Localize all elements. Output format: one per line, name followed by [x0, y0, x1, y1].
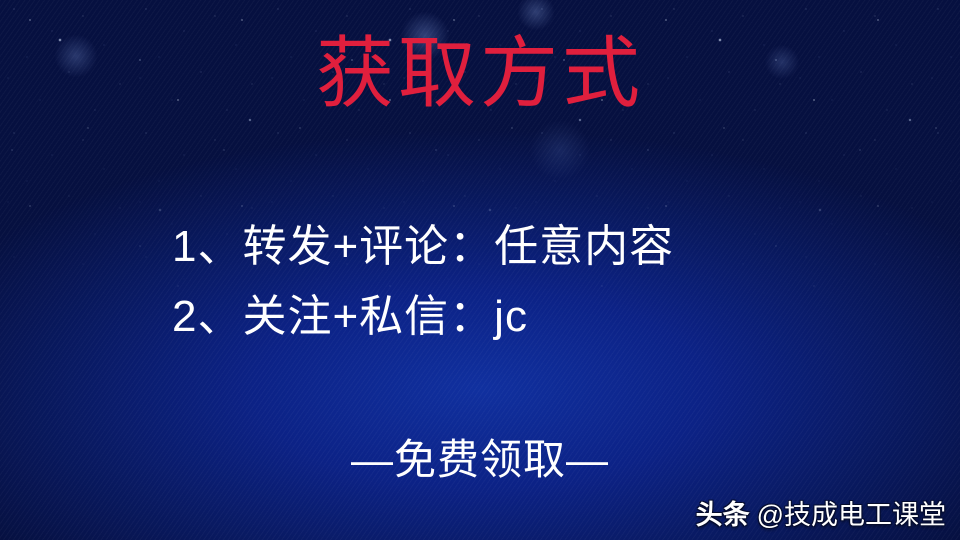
instruction-item-1: 1、转发+评论：任意内容 — [172, 212, 674, 282]
free-claim-note: —免费领取— — [0, 434, 960, 486]
slide-content: 获取方式 1、转发+评论：任意内容 2、关注+私信：jc —免费领取— 头条 @… — [0, 0, 960, 540]
slide-title: 获取方式 — [0, 34, 960, 112]
watermark-brand: 头条 — [696, 493, 750, 532]
watermark: 头条 @技成电工课堂 — [696, 493, 946, 532]
watermark-handle: @技成电工课堂 — [757, 493, 946, 532]
slide-canvas: 获取方式 1、转发+评论：任意内容 2、关注+私信：jc —免费领取— 头条 @… — [0, 0, 960, 540]
instruction-item-2: 2、关注+私信：jc — [172, 282, 674, 352]
instruction-list: 1、转发+评论：任意内容 2、关注+私信：jc — [172, 212, 674, 352]
